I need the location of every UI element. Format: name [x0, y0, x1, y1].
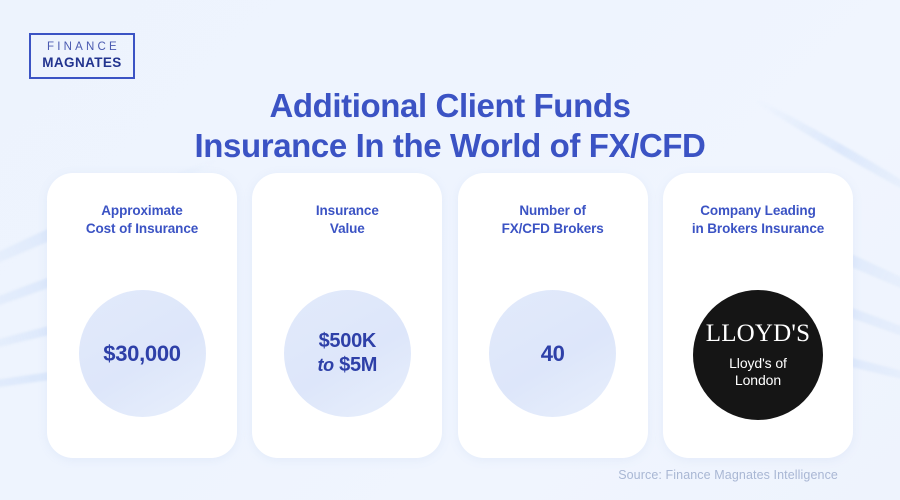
finance-magnates-logo: FINANCE MAGNATES [29, 33, 135, 79]
stat-value: $30,000 [103, 341, 180, 367]
stat-card-label-line-2: FX/CFD Brokers [502, 220, 604, 238]
lloyds-subtitle-line-1: Lloyd's of [729, 355, 787, 372]
infographic-canvas: FINANCE MAGNATES Additional Client Funds… [0, 0, 900, 500]
stat-card-insurance-value: Insurance Value $500K to $5M [252, 173, 442, 458]
stat-card-label: Insurance Value [316, 202, 379, 238]
logo-top-word: FINANCE [44, 40, 120, 54]
lloyds-wordmark: LLOYD'S [706, 321, 811, 346]
stat-value-line-2: to $5M [317, 354, 377, 378]
stat-circle-wrapper: 40 [458, 290, 648, 417]
page-title-line-2: Insurance In the World of FX/CFD [0, 126, 900, 166]
stat-value-line-1: 40 [541, 341, 565, 367]
stat-card-label-line-2: in Brokers Insurance [692, 220, 824, 238]
stat-circle-wrapper: $500K to $5M [252, 290, 442, 417]
lloyds-subtitle-line-2: London [729, 372, 787, 389]
stat-value: 40 [541, 341, 565, 367]
stat-value-line-1: $500K [317, 330, 377, 354]
stat-card-company-leading: Company Leading in Brokers Insurance LLO… [663, 173, 853, 458]
stat-circle: $500K to $5M [284, 290, 411, 417]
lloyds-subtitle: Lloyd's of London [729, 355, 787, 388]
stat-card-approximate-cost: Approximate Cost of Insurance $30,000 [47, 173, 237, 458]
stat-value: $500K to $5M [317, 330, 377, 377]
stat-circle: 40 [489, 290, 616, 417]
stat-value-upper-bound: $5M [339, 354, 377, 376]
stat-card-row: Approximate Cost of Insurance $30,000 In… [47, 173, 853, 458]
stat-card-number-of-brokers: Number of FX/CFD Brokers 40 [458, 173, 648, 458]
stat-card-label-line-1: Insurance [316, 202, 379, 220]
stat-circle: $30,000 [79, 290, 206, 417]
stat-circle-wrapper: LLOYD'S Lloyd's of London [663, 290, 853, 420]
page-title: Additional Client Funds Insurance In the… [0, 86, 900, 167]
stat-card-label-line-1: Approximate [86, 202, 198, 220]
stat-card-label: Approximate Cost of Insurance [86, 202, 198, 238]
stat-card-label-line-2: Value [316, 220, 379, 238]
stat-circle-wrapper: $30,000 [47, 290, 237, 417]
stat-card-label-line-1: Company Leading [692, 202, 824, 220]
stat-card-label-line-2: Cost of Insurance [86, 220, 198, 238]
logo-bottom-word: MAGNATES [42, 55, 121, 72]
stat-card-label: Number of FX/CFD Brokers [502, 202, 604, 238]
stat-value-line-1: $30,000 [103, 341, 180, 367]
source-attribution: Source: Finance Magnates Intelligence [618, 468, 838, 482]
stat-value-connector: to [317, 355, 333, 375]
page-title-line-1: Additional Client Funds [0, 86, 900, 126]
stat-card-label: Company Leading in Brokers Insurance [692, 202, 824, 238]
lloyds-logo: LLOYD'S Lloyd's of London [693, 290, 823, 420]
stat-card-label-line-1: Number of [502, 202, 604, 220]
